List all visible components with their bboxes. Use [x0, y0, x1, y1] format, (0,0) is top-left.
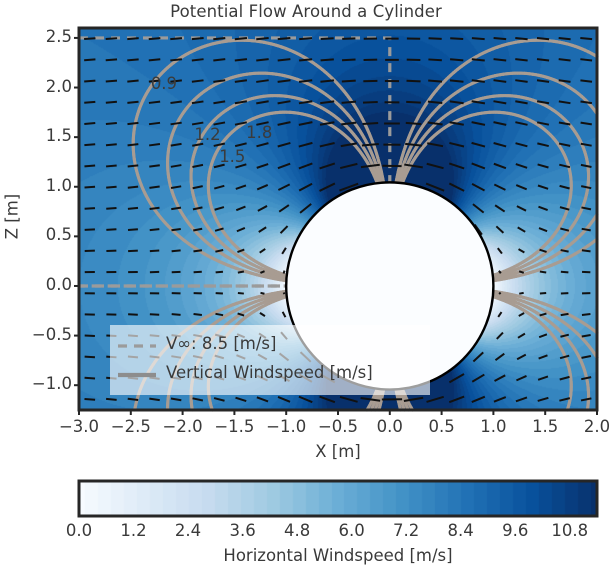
- colorbar-tick-label: 0.0: [53, 521, 105, 540]
- colorbar-tick-label: 10.8: [544, 521, 596, 540]
- y-tick-label: 1.5: [6, 126, 72, 145]
- colorbar-tick-label: 9.6: [489, 521, 541, 540]
- x-tick-label: 2.0: [571, 417, 612, 436]
- x-tick-label: 0.5: [416, 417, 468, 436]
- colorbar-tick-label: 7.2: [380, 521, 432, 540]
- x-tick-label: 1.0: [467, 417, 519, 436]
- y-tick-label: 2.0: [6, 77, 72, 96]
- legend-label-vinf: V∞: 8.5 [m/s]: [166, 334, 276, 353]
- x-axis-label: X [m]: [79, 442, 597, 461]
- y-tick-label: 0.0: [6, 275, 72, 294]
- colorbar-tick-label: 8.4: [435, 521, 487, 540]
- contour-label: 1.8: [243, 123, 275, 142]
- y-tick-label: −0.5: [6, 325, 72, 344]
- x-tick-label: −1.5: [208, 417, 260, 436]
- contour-label: 1.5: [216, 147, 248, 166]
- figure-canvas: Potential Flow Around a Cylinder −3.0−2.…: [0, 0, 612, 566]
- y-tick-label: −1.0: [6, 374, 72, 393]
- colorbar-tick-label: 4.8: [271, 521, 323, 540]
- colorbar-tick-label: 2.4: [162, 521, 214, 540]
- legend-label-vertical: Vertical Windspeed [m/s]: [166, 363, 373, 382]
- contour-label: 0.9: [148, 74, 180, 93]
- x-tick-label: 0.0: [364, 417, 416, 436]
- plot-svg: [0, 0, 612, 566]
- x-tick-label: −2.0: [157, 417, 209, 436]
- colorbar-tick-label: 1.2: [108, 521, 160, 540]
- colorbar-gradient: [79, 481, 597, 516]
- x-tick-label: −3.0: [53, 417, 105, 436]
- y-axis-label: Z [m]: [3, 187, 22, 247]
- colorbar-tick-label: 6.0: [326, 521, 378, 540]
- y-tick-label: 2.5: [6, 27, 72, 46]
- x-tick-label: 1.5: [519, 417, 571, 436]
- x-tick-label: −0.5: [312, 417, 364, 436]
- colorbar-tick-label: 3.6: [217, 521, 269, 540]
- contour-label: 1.2: [191, 125, 223, 144]
- figure-title: Potential Flow Around a Cylinder: [0, 2, 612, 21]
- colorbar-label: Horizontal Windspeed [m/s]: [79, 546, 597, 565]
- x-tick-label: −1.0: [260, 417, 312, 436]
- x-tick-label: −2.5: [105, 417, 157, 436]
